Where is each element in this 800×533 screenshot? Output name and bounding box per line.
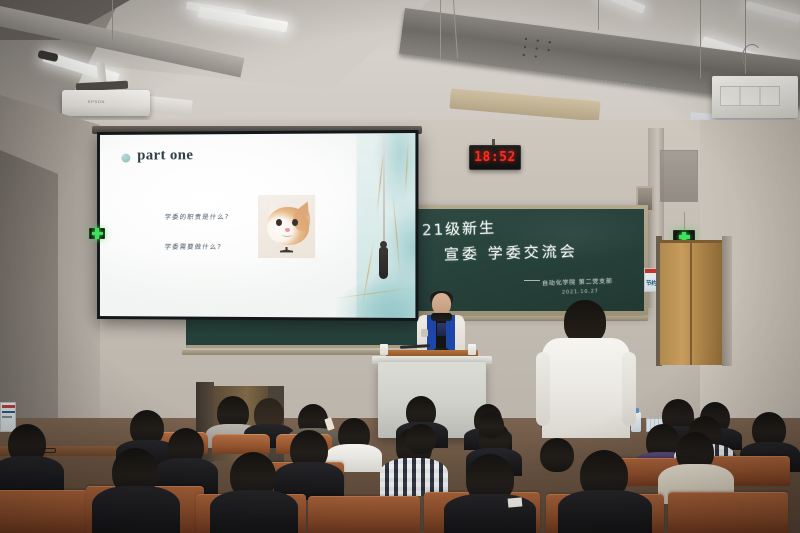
standing-person-arm-right	[622, 352, 636, 426]
podium-cup	[380, 344, 388, 355]
slide-question-1: 学委的职责是什么?	[164, 211, 230, 221]
ceiling-duct	[449, 89, 600, 122]
emergency-exit-icon	[89, 228, 105, 239]
cat-illustration	[258, 195, 315, 258]
audience-shoulders	[444, 494, 536, 533]
circle-bullet-icon	[121, 154, 130, 163]
audience-head	[406, 424, 436, 454]
glasses-icon	[676, 452, 694, 457]
lecture-hall-photo: EPSON 21级新生 宣委 学委交流会 自动化学院 第二党支部 2021.10…	[0, 0, 800, 533]
ceiling-hanger-rod	[112, 0, 113, 40]
cat-eye-right	[292, 219, 298, 226]
left-wall-shadow	[0, 150, 58, 430]
clock-time: 18:52	[474, 150, 516, 165]
blackboard-line-4: 2021.10.27	[562, 288, 599, 295]
audience-shoulders	[210, 490, 298, 533]
ceiling-hanger-rod	[440, 0, 441, 60]
audience-shoulders	[558, 490, 652, 533]
standing-person-arm-left	[536, 352, 550, 426]
standing-attendee-white-shirt	[540, 300, 632, 435]
standing-person-shirt	[542, 338, 630, 438]
seat-row[interactable]	[668, 492, 788, 533]
glasses-icon	[38, 448, 56, 453]
slide-surface: part one 学委的职责是什么? 学委需要做什么?	[100, 133, 415, 318]
blackboard-line-3: 自动化学院 第二党支部	[542, 276, 613, 287]
seat-row[interactable]	[308, 496, 420, 533]
cat-mouth	[282, 232, 292, 237]
paper-on-desk	[508, 497, 523, 507]
slide-question-2: 学委需要做什么?	[164, 241, 222, 251]
audience-head	[540, 438, 574, 472]
door-jamb	[722, 236, 732, 366]
projector-hood	[145, 96, 192, 117]
speaker-collar	[431, 313, 452, 321]
digital-wall-clock: 18:52	[469, 145, 521, 170]
podium-cup	[468, 344, 476, 355]
ceiling: EPSON	[0, 0, 800, 135]
screen-pull-handle[interactable]	[379, 247, 388, 279]
notice-line	[2, 416, 12, 418]
audience-shoulders	[380, 458, 448, 496]
fluorescent-tube-light	[745, 1, 800, 23]
seat-back	[212, 434, 270, 454]
projector-brand-label: EPSON	[88, 99, 105, 104]
blackboard-line-1: 21级新生	[422, 217, 497, 241]
door-seam	[690, 243, 692, 365]
air-conditioner-unit	[712, 76, 798, 118]
notice-line	[2, 411, 15, 413]
speaker-shirt-graphic	[437, 323, 446, 336]
wall-panel	[660, 150, 698, 202]
wall-notice	[0, 402, 16, 432]
exit-door[interactable]	[660, 240, 722, 365]
exit-sign-hanger	[684, 212, 685, 230]
ceiling-projector: EPSON	[62, 90, 150, 116]
cat-eye-left	[276, 219, 282, 226]
ceiling-cable	[742, 44, 762, 70]
speaker-jacket-patch	[421, 329, 428, 337]
audience-shoulders	[92, 486, 180, 533]
cat-graphic	[265, 201, 311, 249]
green-cross-icon	[92, 228, 103, 239]
blackboard-dash	[524, 280, 540, 281]
slide-title: part one	[137, 147, 193, 164]
projection-screen: part one 学委的职责是什么? 学委需要做什么?	[97, 130, 418, 321]
audience-head	[478, 412, 504, 438]
blackboard-line-2: 宣委 学委交流会	[444, 240, 578, 264]
ceiling-hanger-rod	[700, 0, 701, 78]
beam-rivets	[520, 36, 582, 66]
fluorescent-tube-light	[596, 0, 646, 14]
ceiling-hanger-rod	[598, 0, 599, 30]
ac-louver	[720, 86, 780, 106]
notice-line	[2, 405, 15, 408]
screen-pull-cord[interactable]	[383, 134, 385, 256]
speaker-arm-right	[455, 319, 465, 353]
